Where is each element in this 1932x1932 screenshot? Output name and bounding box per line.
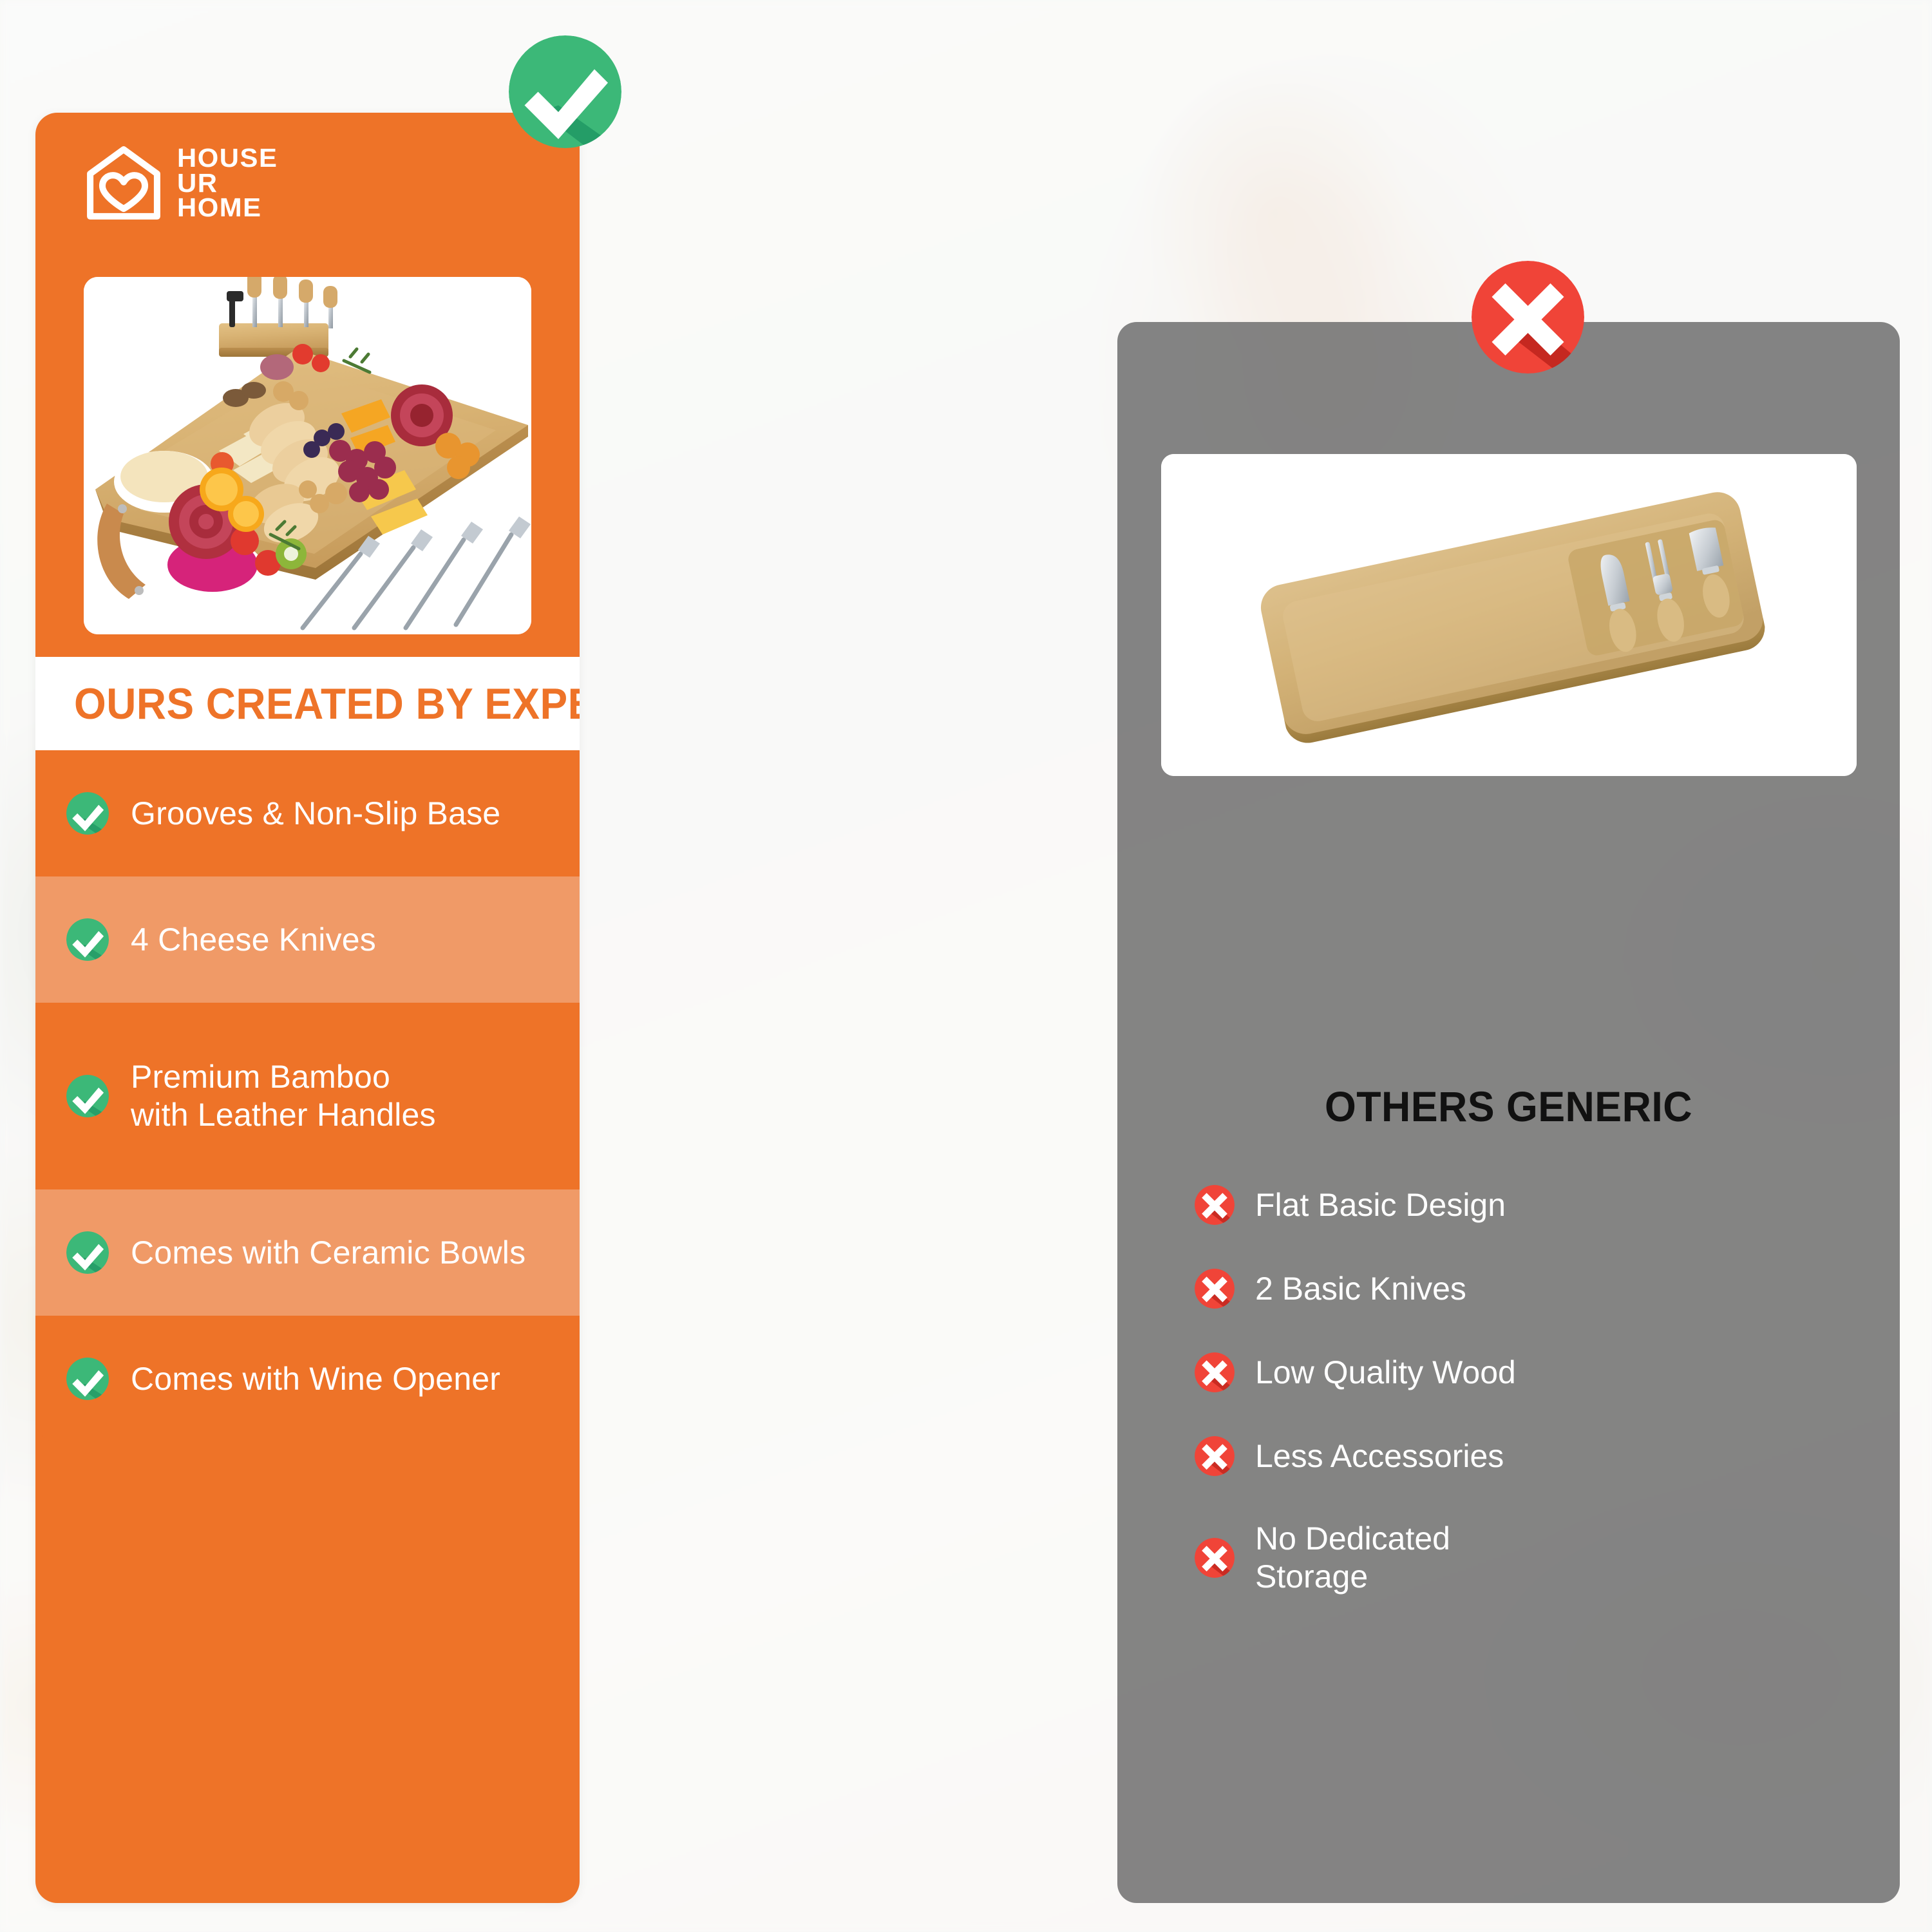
- logo-line-3: HOME: [177, 195, 278, 220]
- others-feature-label: Flat Basic Design: [1255, 1186, 1506, 1224]
- cross-circle-icon: [1472, 261, 1584, 374]
- ours-feature-row: 4 Cheese Knives: [35, 876, 580, 1003]
- others-feature-label: Less Accessories: [1255, 1437, 1504, 1475]
- check-circle-icon: [66, 792, 109, 835]
- ours-feature-label: Premium Bamboo with Leather Handles: [131, 1058, 436, 1134]
- others-feature-label: Low Quality Wood: [1255, 1354, 1516, 1392]
- ours-heading: OURS CREATED BY EXPERTS: [74, 679, 580, 729]
- others-feature-row: Flat Basic Design: [1195, 1185, 1871, 1225]
- check-circle-icon: [509, 35, 621, 148]
- house-heart-icon: [86, 145, 162, 221]
- cross-circle-icon: [1195, 1436, 1235, 1476]
- ours-feature-row: Premium Bamboo with Leather Handles: [35, 1003, 580, 1189]
- cross-circle-icon: [1195, 1538, 1235, 1578]
- others-feature-row: No Dedicated Storage: [1195, 1520, 1871, 1596]
- ours-feature-label: Grooves & Non-Slip Base: [131, 795, 500, 833]
- ours-feature-label: 4 Cheese Knives: [131, 921, 376, 959]
- logo-line-1: HOUSE: [177, 146, 278, 171]
- ours-feature-label: Comes with Ceramic Bowls: [131, 1234, 526, 1272]
- others-feature-label: No Dedicated Storage: [1255, 1520, 1450, 1596]
- check-circle-icon: [66, 918, 109, 961]
- ours-feature-row: Comes with Wine Opener: [35, 1316, 580, 1442]
- ours-feature-label: Comes with Wine Opener: [131, 1360, 500, 1398]
- check-circle-icon: [66, 1358, 109, 1400]
- cross-circle-icon: [1195, 1185, 1235, 1225]
- check-circle-icon: [66, 1231, 109, 1274]
- others-heading: OTHERS GENERIC: [1137, 1082, 1880, 1131]
- ours-panel: HOUSE UR HOME: [35, 113, 580, 1903]
- check-circle-icon: [66, 1075, 109, 1117]
- others-feature-label: 2 Basic Knives: [1255, 1270, 1466, 1308]
- ours-product-photo: [84, 277, 531, 634]
- others-panel: OTHERS GENERIC Flat Basic Design 2 Basic…: [1117, 322, 1900, 1903]
- ours-feature-list: Grooves & Non-Slip Base 4 Cheese Knives …: [35, 750, 580, 1442]
- others-product-photo: [1161, 454, 1857, 776]
- ours-feature-row: Comes with Ceramic Bowls: [35, 1189, 580, 1316]
- ours-feature-row: Grooves & Non-Slip Base: [35, 750, 580, 876]
- brand-logo: HOUSE UR HOME: [86, 145, 276, 221]
- cross-circle-icon: [1195, 1269, 1235, 1309]
- others-feature-row: 2 Basic Knives: [1195, 1269, 1871, 1309]
- others-feature-row: Less Accessories: [1195, 1436, 1871, 1476]
- logo-line-2: UR: [177, 171, 278, 196]
- ours-heading-band: OURS CREATED BY EXPERTS: [35, 657, 580, 750]
- others-feature-list: Flat Basic Design 2 Basic Knives Low Qua…: [1195, 1185, 1871, 1640]
- cross-circle-icon: [1195, 1352, 1235, 1392]
- others-feature-row: Low Quality Wood: [1195, 1352, 1871, 1392]
